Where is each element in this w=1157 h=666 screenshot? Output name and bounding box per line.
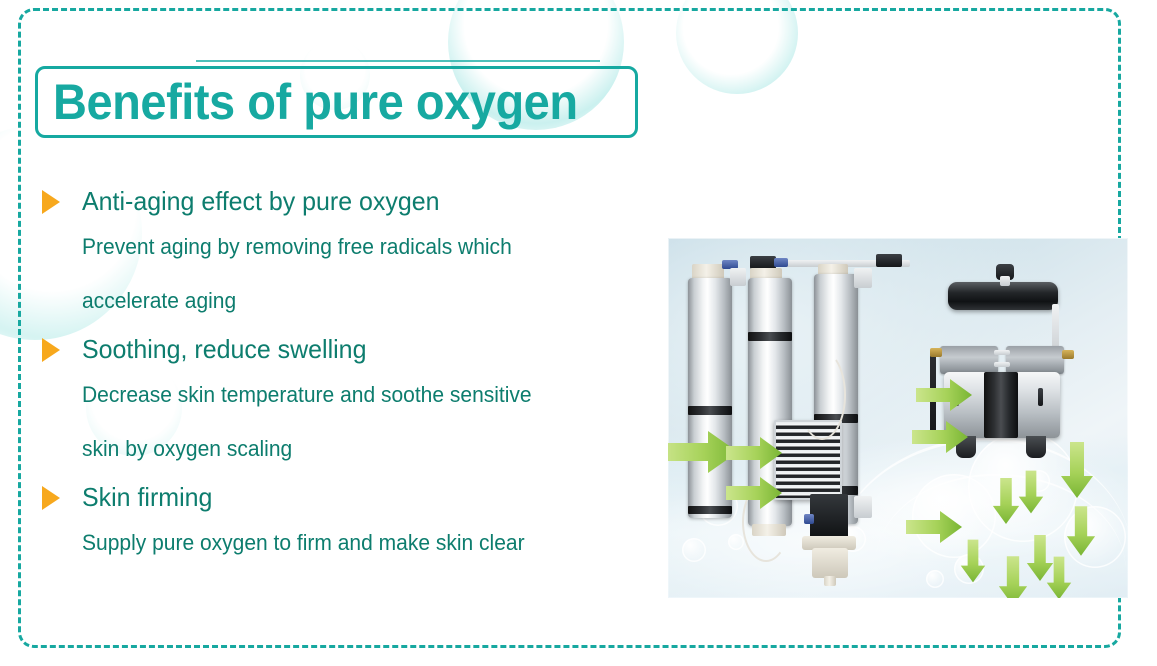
cylinder-3-bracket-bottom [854,496,872,518]
valve-connector [804,514,814,524]
benefit-line-1-2: accelerate aging [82,274,630,328]
connecting-tube-right [798,350,846,440]
benefit-item-1: Anti-aging effect by pure oxygen Prevent… [36,182,656,328]
benefit-line-1-1: Prevent aging by removing free radicals … [82,220,630,274]
compressor-center-band [984,372,1018,438]
benefits-list: Anti-aging effect by pure oxygen Prevent… [36,182,656,570]
benefit-heading-row-2: Soothing, reduce swelling [36,330,656,368]
compressor-crossbar-top [994,350,1010,355]
cylinder-1-band [688,406,732,415]
compressor-brass-fitting-left [930,348,942,357]
muffler-stem [1000,276,1010,286]
compressor-crossbar-bottom [994,362,1010,367]
triangle-right-icon [42,338,60,362]
benefit-line-2-1: Decrease skin temperature and soothe sen… [82,368,630,422]
slide-canvas: Benefits of pure oxygen Anti-aging effec… [0,0,1157,666]
cylinder-1-bracket [730,268,746,286]
photo-bubble [682,538,706,562]
benefit-line-3-1: Supply pure oxygen to firm and make skin… [82,516,630,570]
benefit-item-2: Soothing, reduce swelling Decrease skin … [36,330,656,476]
triangle-right-icon [42,190,60,214]
benefit-heading-1: Anti-aging effect by pure oxygen [82,182,440,220]
cylinder-2-band [748,332,792,341]
benefit-heading-row-1: Anti-aging effect by pure oxygen [36,182,656,220]
compressor-vent-right [1038,388,1043,406]
page-title-box: Benefits of pure oxygen [35,66,638,138]
compressor-head-right [1006,346,1064,374]
triangle-right-icon [42,486,60,510]
cylinder-3-bracket-top [854,268,872,288]
cylinder-2-fitting-blue [774,258,788,267]
compressor-foot-right [1026,436,1046,458]
muffler-tank [948,282,1058,310]
product-photo [668,238,1128,598]
benefit-line-2-2: skin by oxygen scaling [82,422,630,476]
benefit-heading-3: Skin firming [82,478,212,516]
compressor-brass-fitting-right [1062,350,1074,359]
photo-bubble [926,570,944,588]
compressor-head-left [940,346,998,374]
benefit-item-3: Skin firming Supply pure oxygen to firm … [36,478,656,570]
solenoid-valve [810,494,848,540]
page-title: Benefits of pure oxygen [38,77,578,127]
manifold-outlet [824,576,836,586]
cylinder-3-fitting [876,254,902,267]
benefit-heading-2: Soothing, reduce swelling [82,330,366,368]
photo-bubble [728,534,744,550]
manifold-body [812,548,848,578]
benefit-heading-row-3: Skin firming [36,478,656,516]
